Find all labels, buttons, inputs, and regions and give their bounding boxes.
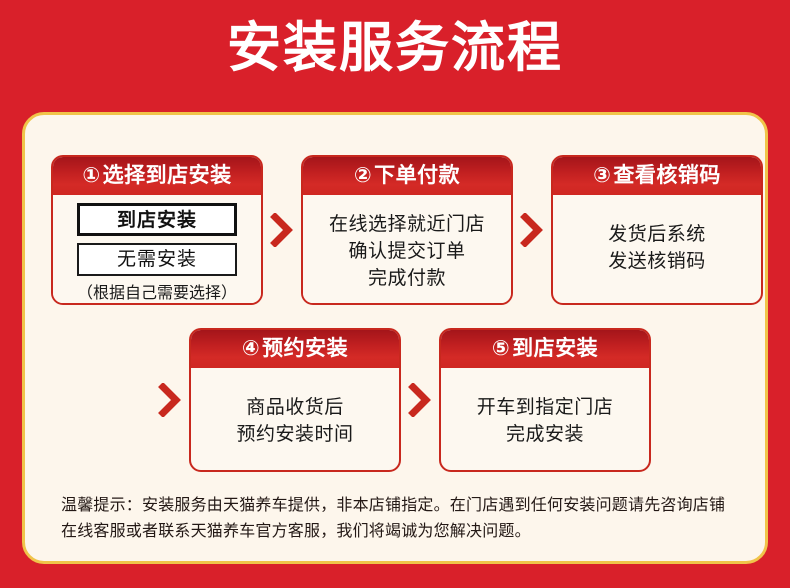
step-card-3-header: ③查看核销码	[553, 157, 761, 195]
step-card-1-body: 到店安装 无需安装 （根据自己需要选择）	[53, 195, 261, 305]
flow-arrow-3	[151, 328, 189, 472]
step-card-3[interactable]: ③查看核销码 发货后系统 发送核销码	[551, 155, 763, 305]
step-4-line-1: 商品收货后	[199, 394, 391, 421]
step-card-4[interactable]: ④预约安装 商品收货后 预约安装时间	[189, 328, 401, 472]
option-no-install-needed[interactable]: 无需安装	[77, 243, 237, 276]
chevron-right-icon	[408, 383, 432, 417]
step-3-line-1: 发货后系统	[561, 221, 753, 248]
step-number-4: ④	[242, 337, 260, 360]
step-card-2-header: ②下单付款	[303, 157, 511, 195]
install-service-flow-infographic: 安装服务流程 ①选择到店安装 到店安装 无需安装 （根据自己需要选择）	[0, 0, 790, 588]
step-3-line-2: 发送核销码	[561, 248, 753, 275]
step-title-1: 选择到店安装	[103, 164, 232, 187]
step-number-2: ②	[354, 164, 372, 187]
step-4-line-2: 预约安装时间	[199, 421, 391, 448]
step-2-line-3: 完成付款	[311, 265, 503, 292]
flow-arrow-4	[401, 328, 439, 472]
flow-row-1: ①选择到店安装 到店安装 无需安装 （根据自己需要选择） ②下单付款	[51, 155, 763, 305]
step-card-3-body: 发货后系统 发送核销码	[553, 195, 761, 287]
step-number-1: ①	[82, 164, 100, 187]
step-card-1[interactable]: ①选择到店安装 到店安装 无需安装 （根据自己需要选择）	[51, 155, 263, 305]
step-card-5[interactable]: ⑤到店安装 开车到指定门店 完成安装	[439, 328, 651, 472]
step-title-2: 下单付款	[374, 164, 460, 187]
option-hint: （根据自己需要选择）	[77, 283, 237, 305]
chevron-right-icon	[270, 213, 294, 247]
step-number-5: ⑤	[492, 337, 510, 360]
footer-note: 温馨提示：安装服务由天猫养车提供，非本店铺指定。在门店遇到任何安装问题请先咨询店…	[61, 493, 737, 545]
step-2-line-2: 确认提交订单	[311, 238, 503, 265]
step-number-3: ③	[593, 164, 611, 187]
step-2-line-1: 在线选择就近门店	[311, 211, 503, 238]
flow-arrow-1	[263, 155, 301, 305]
chevron-right-icon	[158, 383, 182, 417]
step-card-4-body: 商品收货后 预约安装时间	[191, 368, 399, 460]
step-5-line-2: 完成安装	[449, 421, 641, 448]
step-card-5-header: ⑤到店安装	[441, 330, 649, 368]
step-card-2-body: 在线选择就近门店 确认提交订单 完成付款	[303, 195, 511, 304]
option-in-store-install[interactable]: 到店安装	[77, 203, 237, 236]
chevron-right-icon	[520, 213, 544, 247]
step-card-2[interactable]: ②下单付款 在线选择就近门店 确认提交订单 完成付款	[301, 155, 513, 305]
step-title-5: 到店安装	[512, 337, 598, 360]
step-card-5-body: 开车到指定门店 完成安装	[441, 368, 649, 460]
page-title: 安装服务流程	[0, 16, 790, 80]
page-title-text: 安装服务流程	[227, 16, 563, 80]
flow-panel: ①选择到店安装 到店安装 无需安装 （根据自己需要选择） ②下单付款	[22, 112, 768, 564]
step-title-4: 预约安装	[262, 337, 348, 360]
flow-arrow-2	[513, 155, 551, 305]
step-title-3: 查看核销码	[613, 164, 721, 187]
flow-row-2: ④预约安装 商品收货后 预约安装时间 ⑤到店安装 开车到指定门店	[151, 328, 651, 472]
step-card-4-header: ④预约安装	[191, 330, 399, 368]
step-card-1-header: ①选择到店安装	[53, 157, 261, 195]
step-5-line-1: 开车到指定门店	[449, 394, 641, 421]
